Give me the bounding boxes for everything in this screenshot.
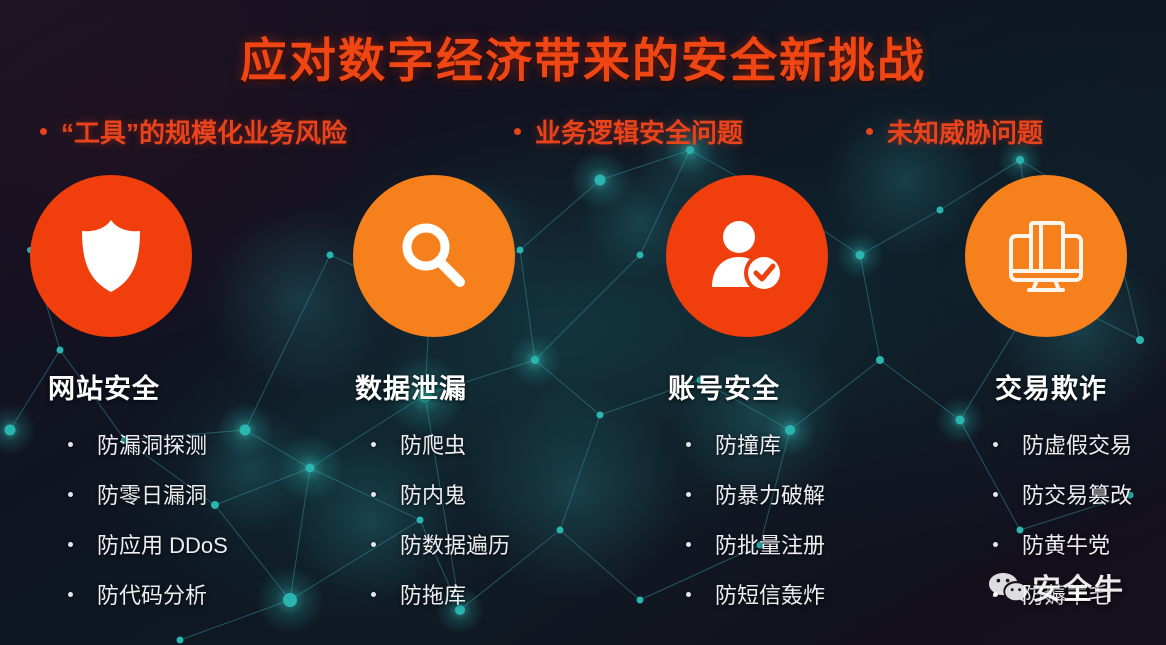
subtitle-bullet-1: “工具”的规模化业务风险 <box>40 113 347 150</box>
bullet-dot-icon <box>371 442 376 447</box>
page-title: 应对数字经济带来的安全新挑战 <box>0 22 1166 91</box>
wechat-icon <box>988 571 1028 603</box>
list-item-label: 防短信轰炸 <box>715 578 825 610</box>
monitor-document-icon <box>1003 216 1089 296</box>
list-item: 防应用 DDoS <box>68 528 322 560</box>
slide-canvas: 应对数字经济带来的安全新挑战 “工具”的规模化业务风险 业务逻辑安全问题 未知威… <box>0 0 1166 645</box>
shield-icon <box>74 216 148 296</box>
magnifier-icon <box>394 216 474 296</box>
list-item: 防暴力破解 <box>686 478 948 510</box>
list-item-label: 防代码分析 <box>97 578 207 610</box>
list-item: 防代码分析 <box>68 578 322 610</box>
magnifier-icon-bubble <box>353 175 515 337</box>
list-item: 防漏洞探测 <box>68 428 322 460</box>
bullet-dot-icon <box>686 592 691 597</box>
list-item: 防批量注册 <box>686 528 948 560</box>
user-verified-icon-bubble <box>666 175 828 337</box>
column-item-list: 防爬虫 防内鬼 防数据遍历 防拖库 <box>371 428 635 610</box>
list-item-label: 防应用 DDoS <box>97 528 228 560</box>
list-item-label: 防交易篡改 <box>1022 478 1132 510</box>
bullet-dot-icon <box>686 442 691 447</box>
bullet-dot-icon <box>686 492 691 497</box>
list-item-label: 防虚假交易 <box>1022 428 1132 460</box>
list-item: 防零日漏洞 <box>68 478 322 510</box>
category-column-website-security: 网站安全 防漏洞探测 防零日漏洞 防应用 DDoS 防代码分析 <box>22 175 322 628</box>
list-item-label: 防拖库 <box>400 578 466 610</box>
column-heading: 交易欺诈 <box>995 367 1165 406</box>
bullet-dot-icon <box>866 128 873 135</box>
subtitle-bullet-label: 未知威胁问题 <box>887 113 1043 150</box>
list-item: 防爬虫 <box>371 428 635 460</box>
list-item: 防数据遍历 <box>371 528 635 560</box>
bullet-dot-icon <box>68 492 73 497</box>
list-item-label: 防爬虫 <box>400 428 466 460</box>
bullet-dot-icon <box>993 492 998 497</box>
list-item-label: 防批量注册 <box>715 528 825 560</box>
column-item-list: 防撞库 防暴力破解 防批量注册 防短信轰炸 <box>686 428 948 610</box>
column-heading: 数据泄漏 <box>355 367 635 406</box>
list-item: 防拖库 <box>371 578 635 610</box>
bullet-dot-icon <box>514 128 521 135</box>
category-column-account-security: 账号安全 防撞库 防暴力破解 防批量注册 防短信轰炸 <box>648 175 948 628</box>
list-item-label: 防零日漏洞 <box>97 478 207 510</box>
column-heading: 账号安全 <box>668 367 948 406</box>
list-item-label: 防内鬼 <box>400 478 466 510</box>
bullet-dot-icon <box>686 542 691 547</box>
column-heading: 网站安全 <box>48 367 322 406</box>
list-item: 防短信轰炸 <box>686 578 948 610</box>
subtitle-bullet-row: “工具”的规模化业务风险 业务逻辑安全问题 未知威胁问题 <box>0 113 1166 153</box>
subtitle-bullet-3: 未知威胁问题 <box>866 113 1043 150</box>
monitor-document-icon-bubble <box>965 175 1127 337</box>
subtitle-bullet-2: 业务逻辑安全问题 <box>514 113 743 150</box>
list-item-label: 防撞库 <box>715 428 781 460</box>
subtitle-bullet-label: 业务逻辑安全问题 <box>535 113 743 150</box>
subtitle-bullet-label: “工具”的规模化业务风险 <box>61 113 347 150</box>
category-column-transaction-fraud: 交易欺诈 防虚假交易 防交易篡改 防黄牛党 防薅羊毛 <box>955 175 1165 628</box>
bullet-dot-icon <box>993 542 998 547</box>
list-item: 防黄牛党 <box>993 528 1165 560</box>
category-column-data-leak: 数据泄漏 防爬虫 防内鬼 防数据遍历 防拖库 <box>335 175 635 628</box>
list-item-label: 防漏洞探测 <box>97 428 207 460</box>
watermark-label: 安全牛 <box>1032 566 1125 608</box>
bullet-dot-icon <box>68 592 73 597</box>
list-item: 防内鬼 <box>371 478 635 510</box>
bullet-dot-icon <box>993 442 998 447</box>
bullet-dot-icon <box>68 542 73 547</box>
user-verified-icon <box>706 217 788 295</box>
bullet-dot-icon <box>371 492 376 497</box>
list-item: 防虚假交易 <box>993 428 1165 460</box>
shield-icon-bubble <box>30 175 192 337</box>
column-item-list: 防漏洞探测 防零日漏洞 防应用 DDoS 防代码分析 <box>68 428 322 610</box>
bullet-dot-icon <box>371 592 376 597</box>
bullet-dot-icon <box>40 128 47 135</box>
list-item-label: 防黄牛党 <box>1022 528 1110 560</box>
bullet-dot-icon <box>68 442 73 447</box>
list-item: 防交易篡改 <box>993 478 1165 510</box>
list-item-label: 防暴力破解 <box>715 478 825 510</box>
bullet-dot-icon <box>371 542 376 547</box>
wechat-watermark: 安全牛 <box>988 566 1125 608</box>
list-item: 防撞库 <box>686 428 948 460</box>
list-item-label: 防数据遍历 <box>400 528 510 560</box>
